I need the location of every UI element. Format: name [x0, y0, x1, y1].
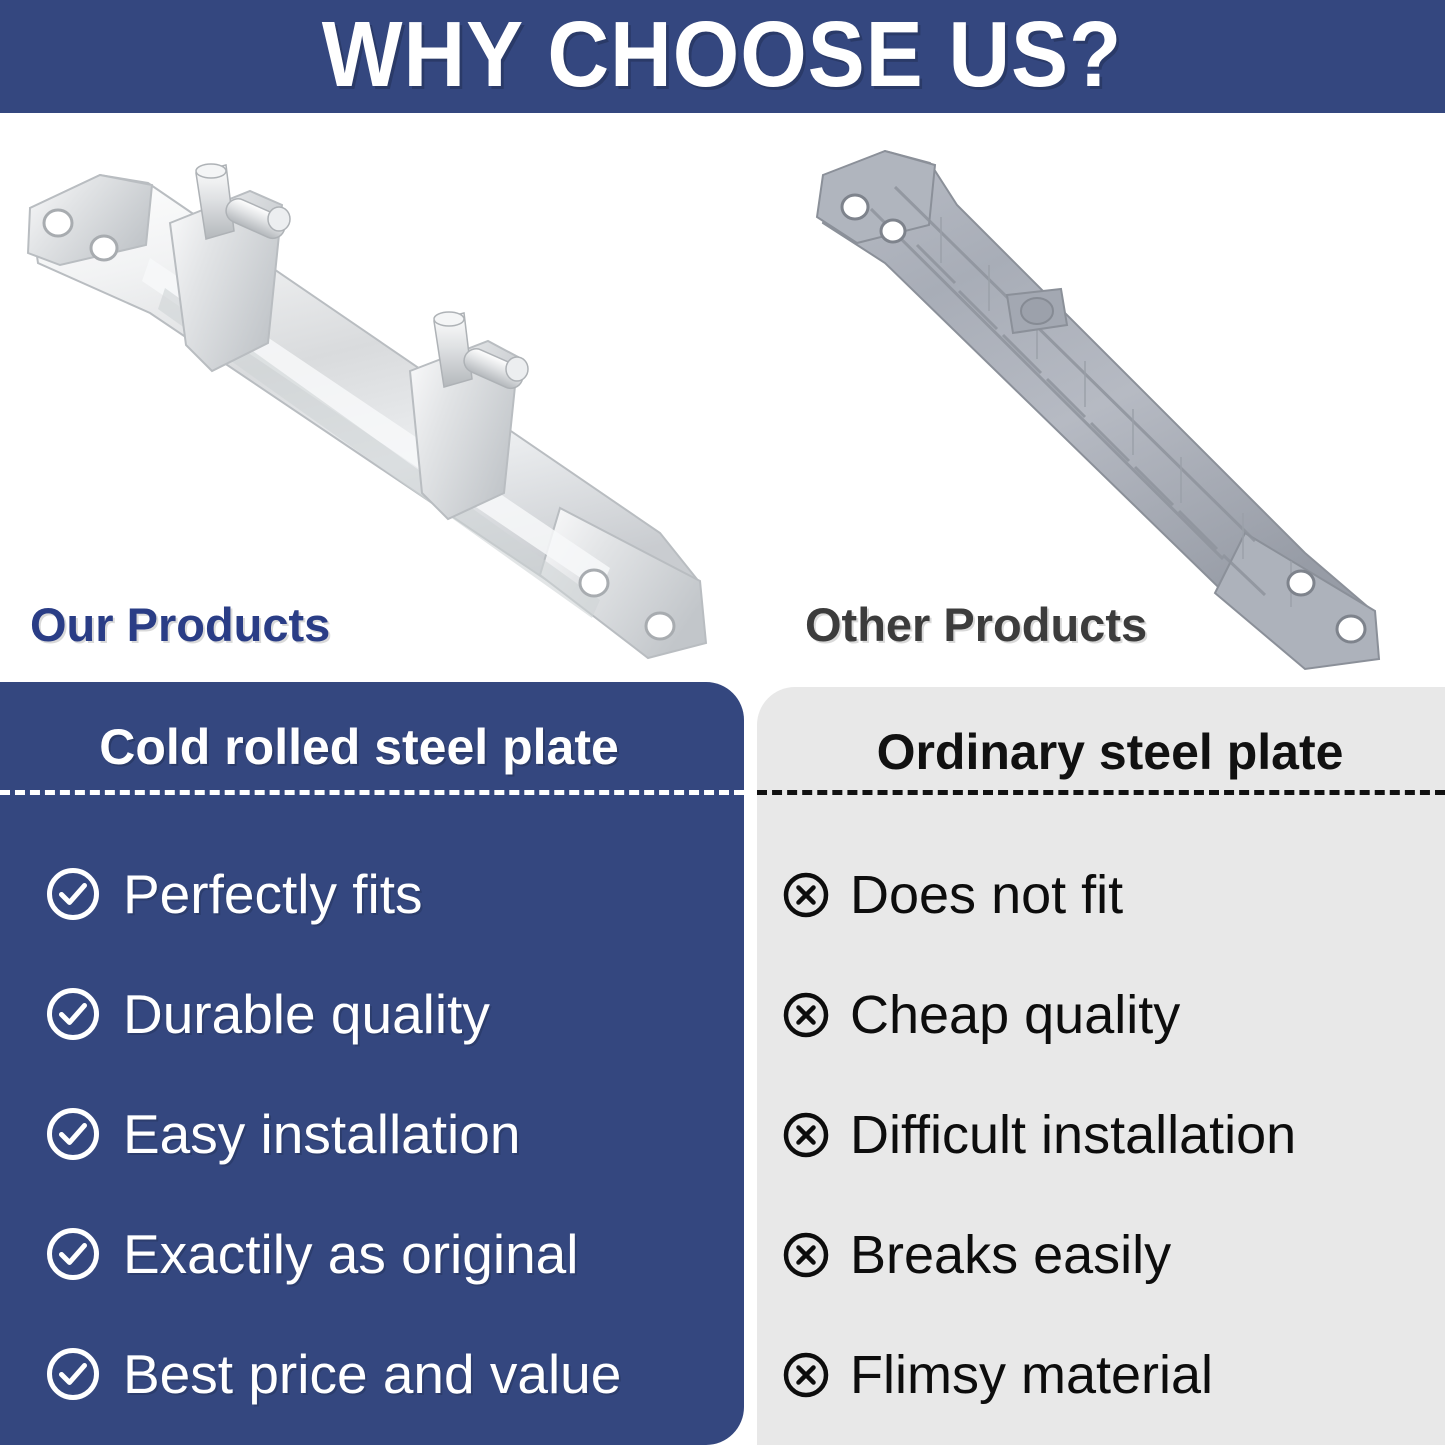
feature-label: Easy installation — [123, 1107, 520, 1162]
check-circle-icon — [45, 866, 101, 922]
our-product-photo: Our Products — [0, 113, 745, 683]
feature-label: Cheap quality — [850, 988, 1180, 1042]
check-circle-icon — [45, 986, 101, 1042]
feature-label: Breaks easily — [850, 1228, 1171, 1282]
our-products-caption: Our Products — [30, 601, 330, 648]
product-photos-section: Our Products — [0, 113, 1445, 683]
our-panel-divider — [0, 790, 744, 795]
other-panel-divider — [757, 790, 1445, 795]
other-feature-list: Does not fit Cheap quality Difficult ins… — [757, 835, 1445, 1435]
other-products-caption: Other Products — [805, 601, 1147, 648]
feature-label: Does not fit — [850, 868, 1123, 922]
x-circle-icon — [782, 871, 830, 919]
header-banner: WHY CHOOSE US? — [0, 0, 1445, 113]
check-circle-icon — [45, 1226, 101, 1282]
list-item: Flimsy material — [782, 1315, 1445, 1435]
page-title: WHY CHOOSE US? — [322, 8, 1122, 105]
list-item: Breaks easily — [782, 1195, 1445, 1315]
feature-label: Best price and value — [123, 1347, 621, 1402]
feature-label: Durable quality — [123, 987, 490, 1042]
other-panel-heading: Ordinary steel plate — [757, 727, 1445, 777]
list-item: Does not fit — [782, 835, 1445, 955]
feature-label: Difficult installation — [850, 1108, 1296, 1162]
feature-label: Perfectly fits — [123, 867, 423, 922]
list-item: Easy installation — [45, 1074, 789, 1194]
list-item: Cheap quality — [782, 955, 1445, 1075]
feature-label: Exactily as original — [123, 1227, 578, 1282]
other-products-panel: Ordinary steel plate Does not fit Cheap … — [757, 687, 1445, 1445]
x-circle-icon — [782, 1351, 830, 1399]
list-item: Difficult installation — [782, 1075, 1445, 1195]
check-circle-icon — [45, 1106, 101, 1162]
list-item: Best price and value — [45, 1314, 789, 1434]
list-item: Exactily as original — [45, 1194, 789, 1314]
other-product-photo: Other Products — [745, 113, 1445, 683]
check-circle-icon — [45, 1346, 101, 1402]
x-circle-icon — [782, 1231, 830, 1279]
x-circle-icon — [782, 991, 830, 1039]
list-item: Perfectly fits — [45, 834, 789, 954]
feature-label: Flimsy material — [850, 1348, 1213, 1402]
list-item: Durable quality — [45, 954, 789, 1074]
our-panel-heading: Cold rolled steel plate — [0, 722, 744, 772]
our-feature-list: Perfectly fits Durable quality Easy inst… — [0, 834, 789, 1434]
our-products-panel: Cold rolled steel plate Perfectly fits D… — [0, 682, 744, 1445]
x-circle-icon — [782, 1111, 830, 1159]
